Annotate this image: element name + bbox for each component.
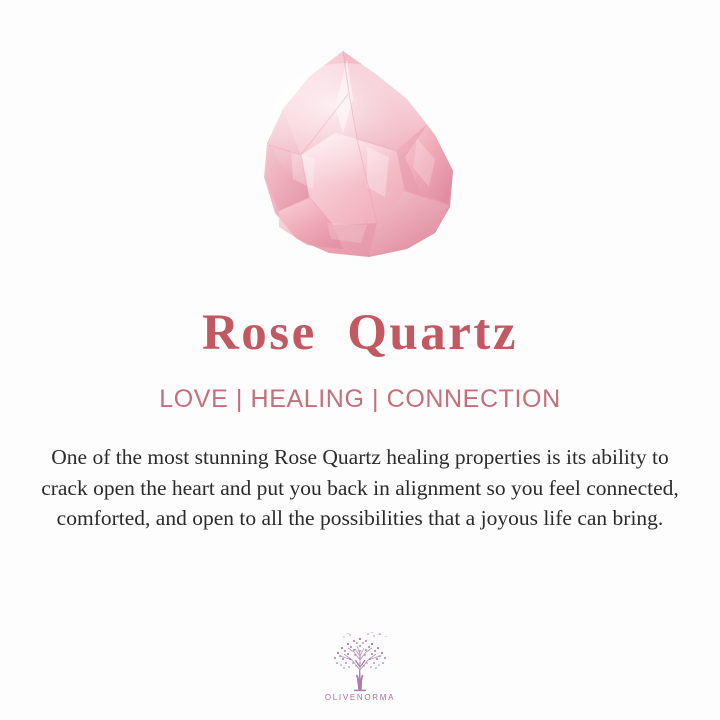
product-card: Rose Quartz LOVE | HEALING | CONNECTION … bbox=[0, 0, 720, 720]
brand-logo: OLIVENORMA bbox=[0, 630, 720, 702]
tree-logo-icon bbox=[324, 630, 396, 692]
product-keywords-subtitle: LOVE | HEALING | CONNECTION bbox=[159, 385, 560, 414]
brand-wordmark: OLIVENORMA bbox=[325, 693, 395, 702]
product-description: One of the most stunning Rose Quartz hea… bbox=[30, 442, 690, 534]
crystal-image-container bbox=[0, 0, 720, 262]
product-title: Rose Quartz bbox=[202, 308, 518, 359]
rose-quartz-crystal-icon bbox=[257, 47, 463, 262]
